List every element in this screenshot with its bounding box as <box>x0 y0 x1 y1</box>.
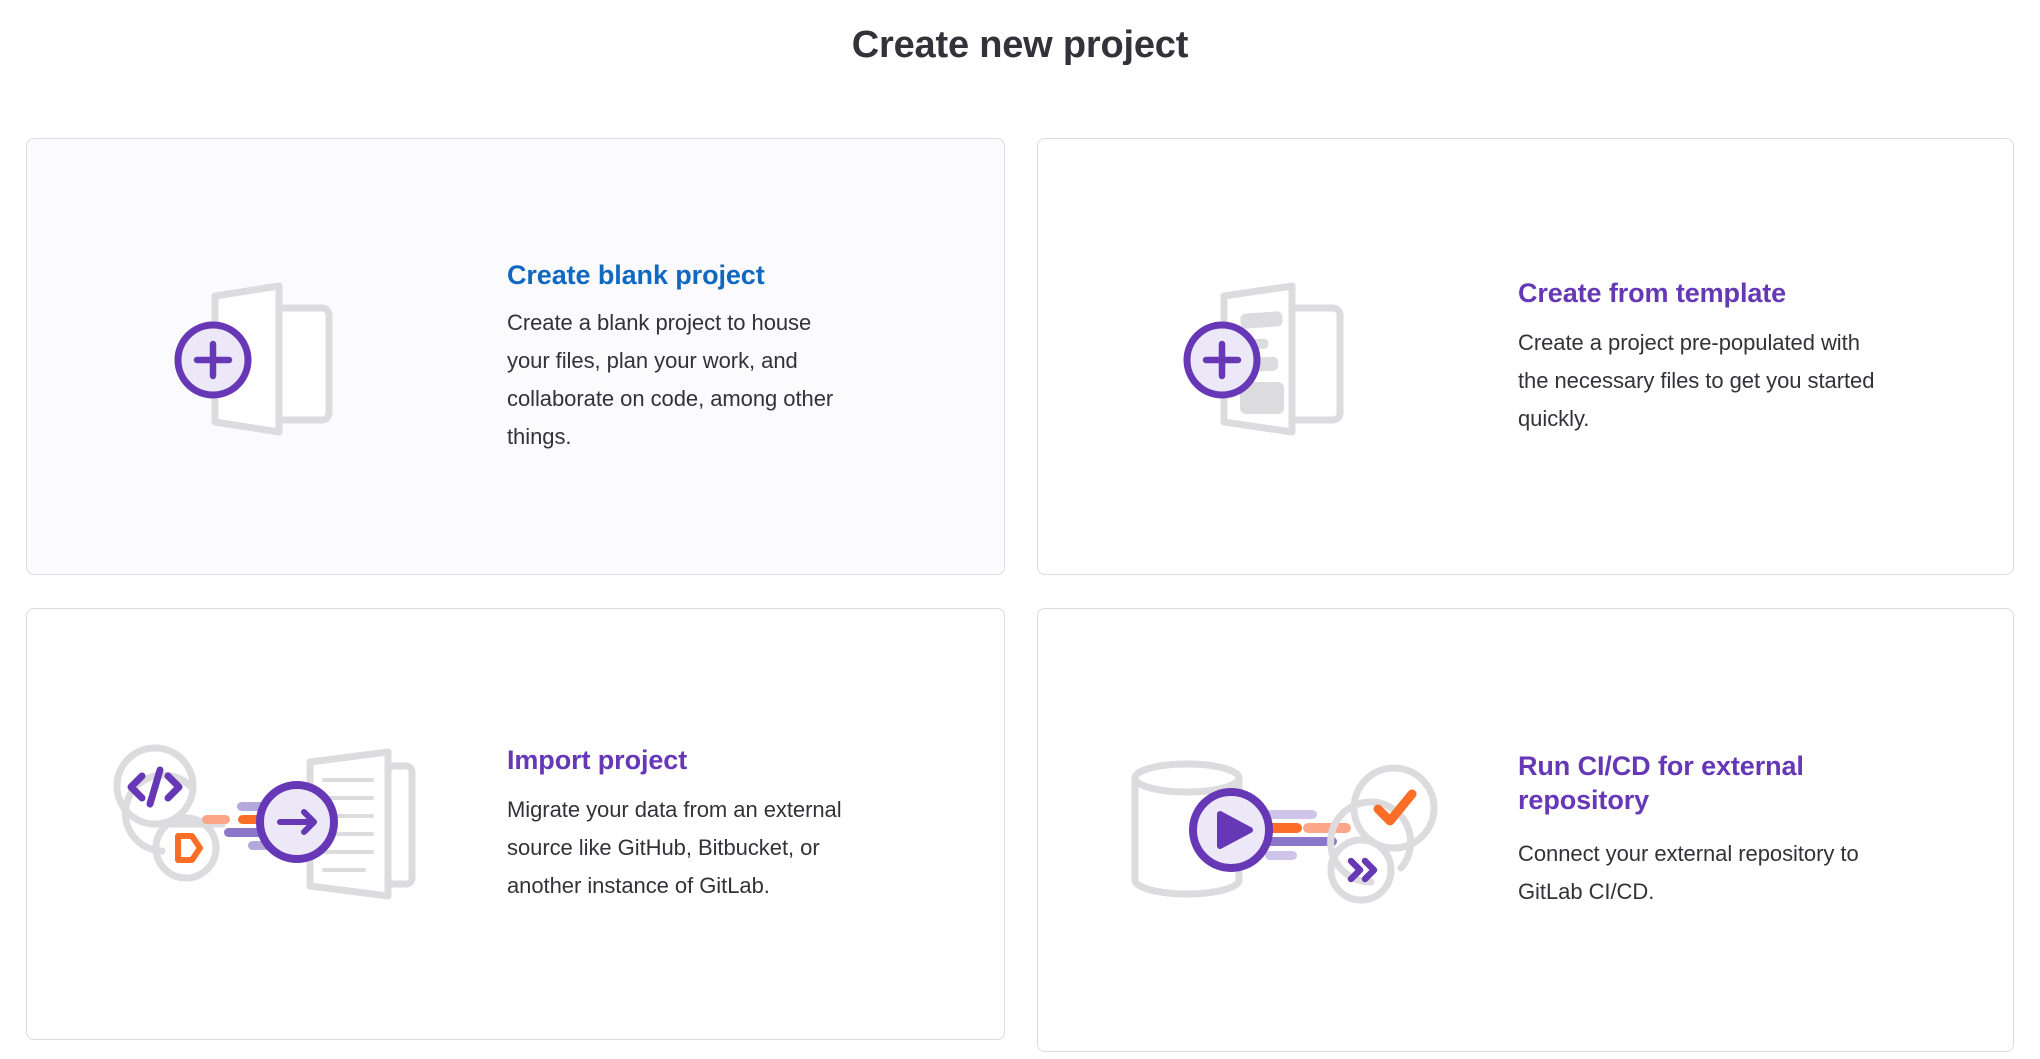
blank-project-folder-plus-icon <box>27 262 507 452</box>
import-arrow-document-icon <box>27 724 507 924</box>
card-description-blank: Create a blank project to house your fil… <box>507 304 859 456</box>
cicd-play-database-icon <box>1038 730 1518 930</box>
page-title: Create new project <box>0 22 2040 68</box>
template-document-plus-icon <box>1038 262 1518 452</box>
card-text-blank: Create blank project Create a blank proj… <box>507 258 899 456</box>
card-title-blank: Create blank project <box>507 258 859 292</box>
run-cicd-external-repository-card[interactable]: Run CI/CD for external repository Connec… <box>1037 608 2014 1052</box>
card-text-cicd: Run CI/CD for external repository Connec… <box>1518 749 1918 911</box>
create-blank-project-card[interactable]: Create blank project Create a blank proj… <box>26 138 1005 575</box>
project-type-card-grid: Create blank project Create a blank proj… <box>26 138 2014 1052</box>
card-description-import: Migrate your data from an external sourc… <box>507 791 879 905</box>
card-title-template: Create from template <box>1518 276 1878 310</box>
import-project-card[interactable]: Import project Migrate your data from an… <box>26 608 1005 1040</box>
card-text-template: Create from template Create a project pr… <box>1518 276 1918 438</box>
card-title-cicd: Run CI/CD for external repository <box>1518 749 1878 817</box>
create-from-template-card[interactable]: Create from template Create a project pr… <box>1037 138 2014 575</box>
card-text-import: Import project Migrate your data from an… <box>507 743 919 905</box>
card-description-cicd: Connect your external repository to GitL… <box>1518 835 1878 911</box>
create-new-project-page: Create new project Create blank project … <box>0 0 2040 1059</box>
card-title-import: Import project <box>507 743 879 777</box>
card-description-template: Create a project pre-populated with the … <box>1518 324 1878 438</box>
